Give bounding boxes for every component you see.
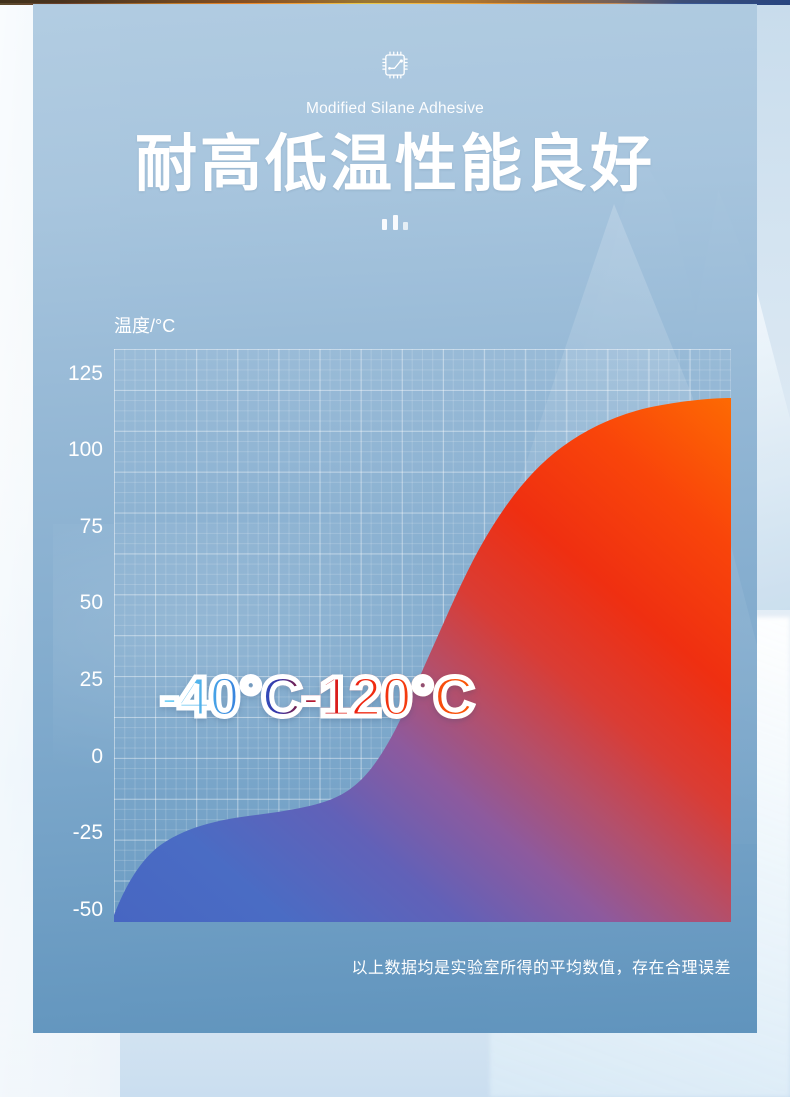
previous-section-strip-shadow bbox=[0, 0, 790, 3]
y-tick-label: -50 bbox=[33, 898, 103, 922]
temperature-area-chart: 温度/°C 125 100 75 50 25 0 -25 -50 bbox=[33, 269, 757, 969]
y-axis-tick-labels: 125 100 75 50 25 0 -25 -50 bbox=[33, 349, 103, 922]
y-tick-label: 0 bbox=[33, 745, 103, 769]
chart-footnote: 以上数据均是实验室所得的平均数值，存在合理误差 bbox=[351, 954, 731, 978]
y-tick-label: 25 bbox=[33, 668, 103, 692]
chart-plot-area bbox=[114, 349, 731, 922]
y-tick-label: -25 bbox=[33, 821, 103, 845]
page-stage: Modified Silane Adhesive 耐高低温性能良好 温度/°C … bbox=[0, 0, 790, 1097]
temperature-curve-area bbox=[114, 349, 731, 922]
card-header: Modified Silane Adhesive 耐高低温性能良好 bbox=[33, 4, 757, 230]
card-subtitle-en: Modified Silane Adhesive bbox=[33, 100, 757, 118]
y-tick-label: 125 bbox=[33, 362, 103, 386]
y-tick-label: 50 bbox=[33, 591, 103, 615]
page-title: 耐高低温性能良好 bbox=[33, 130, 757, 199]
temperature-range-callout: -40°C-120°C bbox=[160, 669, 473, 726]
chip-ic-icon bbox=[378, 50, 412, 80]
three-bars-divider-icon bbox=[382, 215, 408, 230]
feature-card: Modified Silane Adhesive 耐高低温性能良好 温度/°C … bbox=[33, 4, 757, 1033]
y-tick-label: 75 bbox=[33, 515, 103, 539]
y-axis-title: 温度/°C bbox=[114, 312, 175, 338]
y-tick-label: 100 bbox=[33, 438, 103, 462]
